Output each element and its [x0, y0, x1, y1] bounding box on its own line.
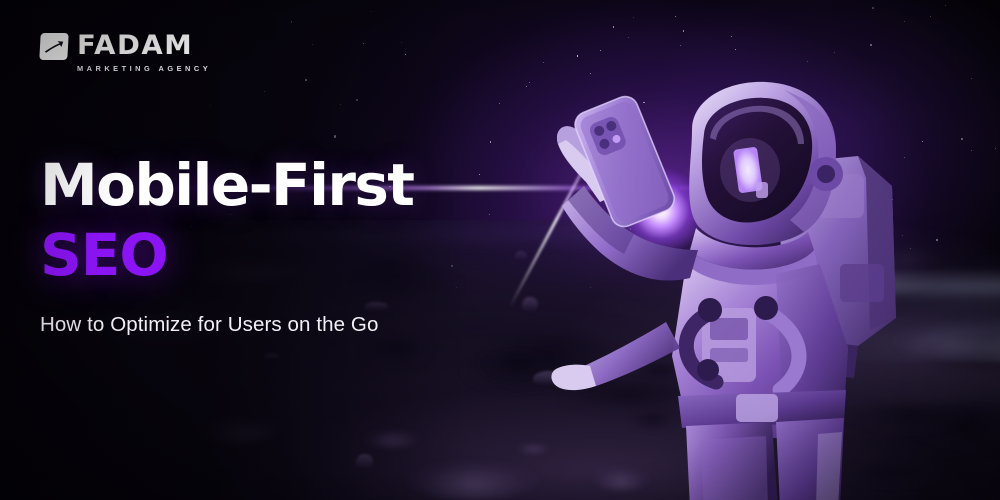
copy-block: Mobile-First SEO How to Optimize for Use…: [40, 150, 510, 338]
astronaut-torso: [672, 264, 848, 438]
logo-wordmark: FADAM: [77, 33, 214, 59]
astronaut-illustration: [540, 78, 960, 500]
logo-text-group: FADAM MARKETING AGENCY: [77, 33, 211, 73]
visor-phone-reflection: [720, 138, 780, 202]
logo-tagline: MARKETING AGENCY: [77, 64, 211, 73]
headline-line-1: Mobile-First: [40, 150, 510, 220]
subheadline: How to Optimize for Users on the Go: [40, 312, 510, 338]
headline-line-2-seo: SEO: [40, 220, 510, 290]
astronaut-arm-lower: [551, 322, 680, 390]
seo-banner: FADAM MARKETING AGENCY Mobile-First SEO …: [0, 0, 1000, 500]
astronaut-legs: [686, 418, 844, 500]
arrow-up-right-swoosh-icon: [39, 33, 68, 60]
brand-logo[interactable]: FADAM MARKETING AGENCY: [40, 33, 211, 73]
